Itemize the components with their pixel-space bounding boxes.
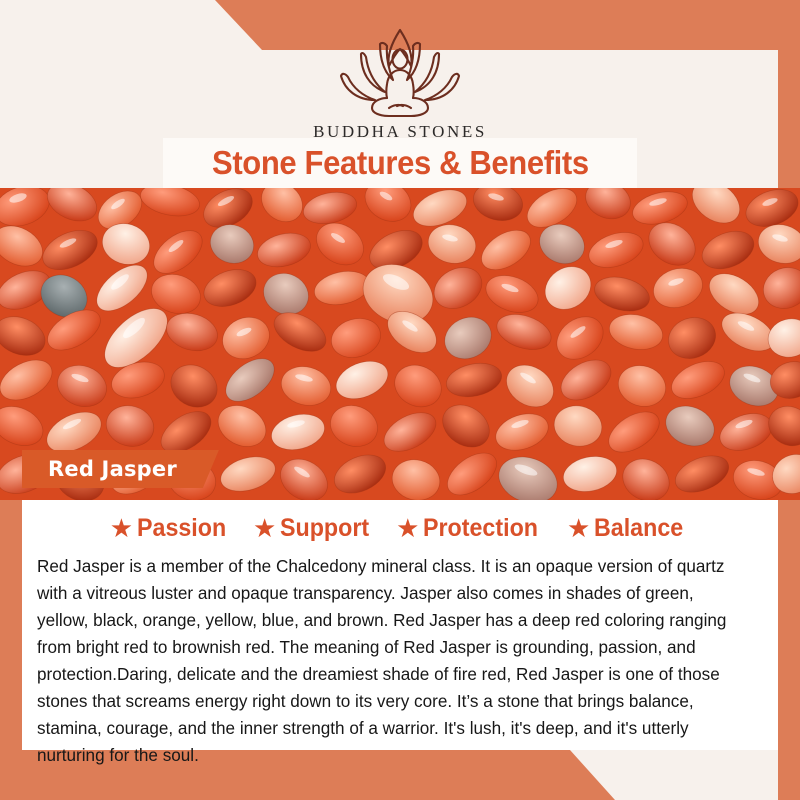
benefit-label: Balance [594, 514, 683, 543]
stone-description: Red Jasper is a member of the Chalcedony… [37, 553, 749, 769]
benefit-item-support: ★ Support [253, 514, 376, 543]
star-icon: ★ [396, 515, 419, 541]
stone-name-banner: Red Jasper [22, 450, 219, 488]
content-panel: ★ Passion ★ Support ★ Protection ★ Balan… [22, 500, 778, 750]
lotus-meditation-icon [323, 24, 477, 120]
brand-logo: BUDDHA STONES [0, 24, 800, 142]
benefit-item-protection: ★ Protection [396, 514, 547, 543]
star-icon: ★ [253, 515, 276, 541]
star-icon: ★ [567, 515, 590, 541]
benefit-label: Passion [137, 514, 226, 543]
star-icon: ★ [110, 515, 133, 541]
benefit-item-passion: ★ Passion [110, 514, 233, 543]
benefit-label: Protection [423, 514, 538, 543]
benefit-label: Support [280, 514, 369, 543]
benefits-row: ★ Passion ★ Support ★ Protection ★ Balan… [22, 500, 778, 543]
title-banner: Stone Features & Benefits [163, 138, 637, 188]
stone-name: Red Jasper [48, 457, 177, 481]
page-title: Stone Features & Benefits [212, 144, 589, 182]
benefit-item-balance: ★ Balance [567, 514, 690, 543]
infographic-page: BUDDHA STONES Stone Features & Benefits [0, 0, 800, 800]
